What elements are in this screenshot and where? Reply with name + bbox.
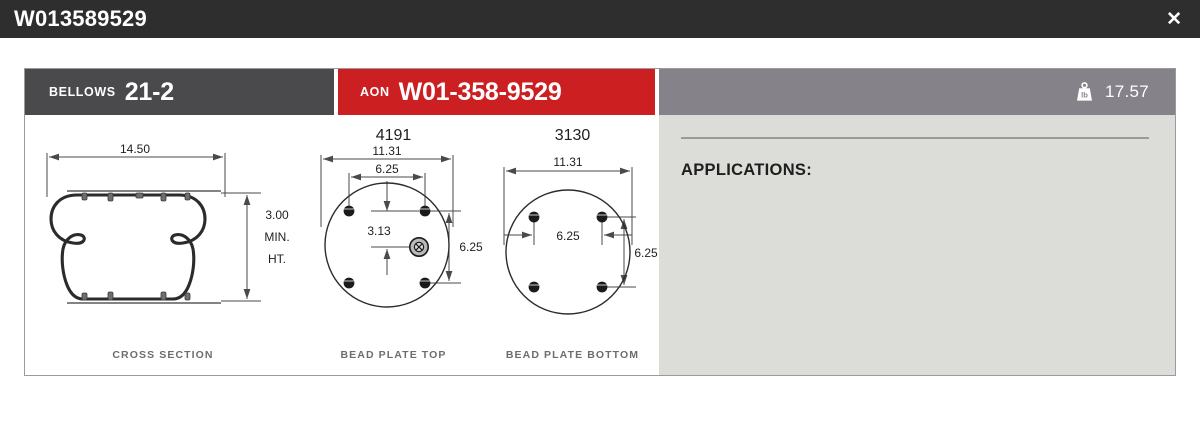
cross-section-svg: 14.50 3.00 MIN. HT. [25, 115, 301, 345]
drawing-bead-plate-top: 4191 [301, 115, 486, 375]
bead-plate-bottom-caption: BEAD PLATE BOTTOM [486, 349, 659, 361]
bead-top-bolt-span-v-value: 6.25 [459, 240, 483, 254]
svg-text:lb: lb [1081, 90, 1088, 99]
drawing-cross-section: 14.50 3.00 MIN. HT. CROSS SECTION [25, 115, 301, 375]
part-number-value: W01-358-9529 [399, 78, 562, 107]
bellows-value: 21-2 [125, 78, 174, 107]
page-title: W013589529 [0, 8, 147, 30]
brand-label: AON [360, 85, 390, 99]
bolt-holes [529, 212, 608, 293]
spec-sheet-window: W013589529 ✕ BELLOWS 21-2 AON W01-358-95… [0, 0, 1200, 439]
bead-top-port-offset-value: 3.13 [367, 224, 391, 238]
part-number-header: AON W01-358-9529 [334, 69, 659, 115]
bead-plate-top-caption: BEAD PLATE TOP [301, 349, 486, 361]
applications-panel: APPLICATIONS: [659, 115, 1175, 375]
cross-section-height-unit1: MIN. [264, 230, 289, 244]
drawing-bead-plate-bottom: 3130 [486, 115, 659, 375]
applications-title: APPLICATIONS: [681, 161, 1149, 180]
cross-section-width-value: 14.50 [120, 142, 150, 156]
close-icon[interactable]: ✕ [1166, 10, 1200, 29]
bead-bottom-diameter-value: 11.31 [553, 155, 582, 169]
bead-plate-bottom-number: 3130 [486, 127, 659, 145]
cross-section-height-value: 3.00 [265, 208, 289, 222]
bead-bottom-bolt-span-v-value: 6.25 [634, 246, 658, 260]
bead-plate-top-number: 4191 [301, 127, 486, 145]
bellows-header: BELLOWS 21-2 [25, 69, 334, 115]
bead-bottom-bolt-span-h-value: 6.25 [556, 229, 580, 243]
weight-value: 17.57 [1105, 82, 1149, 102]
weight-lb-icon: lb [1075, 82, 1094, 102]
product-spec-card: BELLOWS 21-2 AON W01-358-9529 lb 17.57 [24, 68, 1176, 376]
bead-top-diameter-value: 11.31 [372, 144, 401, 158]
card-body: 14.50 3.00 MIN. HT. CROSS SECTION 4191 [25, 115, 1175, 375]
weight-header: lb 17.57 [659, 69, 1175, 115]
cross-section-height-unit2: HT. [268, 252, 286, 266]
card-header: BELLOWS 21-2 AON W01-358-9529 lb 17.57 [25, 69, 1175, 115]
bead-plate-top-svg: 11.31 6.25 6.25 3.13 [301, 115, 486, 345]
bellows-label: BELLOWS [49, 85, 116, 99]
window-titlebar: W013589529 ✕ [0, 0, 1200, 38]
applications-divider [681, 137, 1149, 139]
drawings-panel: 14.50 3.00 MIN. HT. CROSS SECTION 4191 [25, 115, 659, 375]
bead-top-bolt-span-h-value: 6.25 [375, 162, 399, 176]
bead-plate-bottom-svg: 11.31 6.25 6.25 [486, 115, 659, 345]
air-port [410, 238, 428, 256]
cross-section-caption: CROSS SECTION [25, 349, 301, 361]
